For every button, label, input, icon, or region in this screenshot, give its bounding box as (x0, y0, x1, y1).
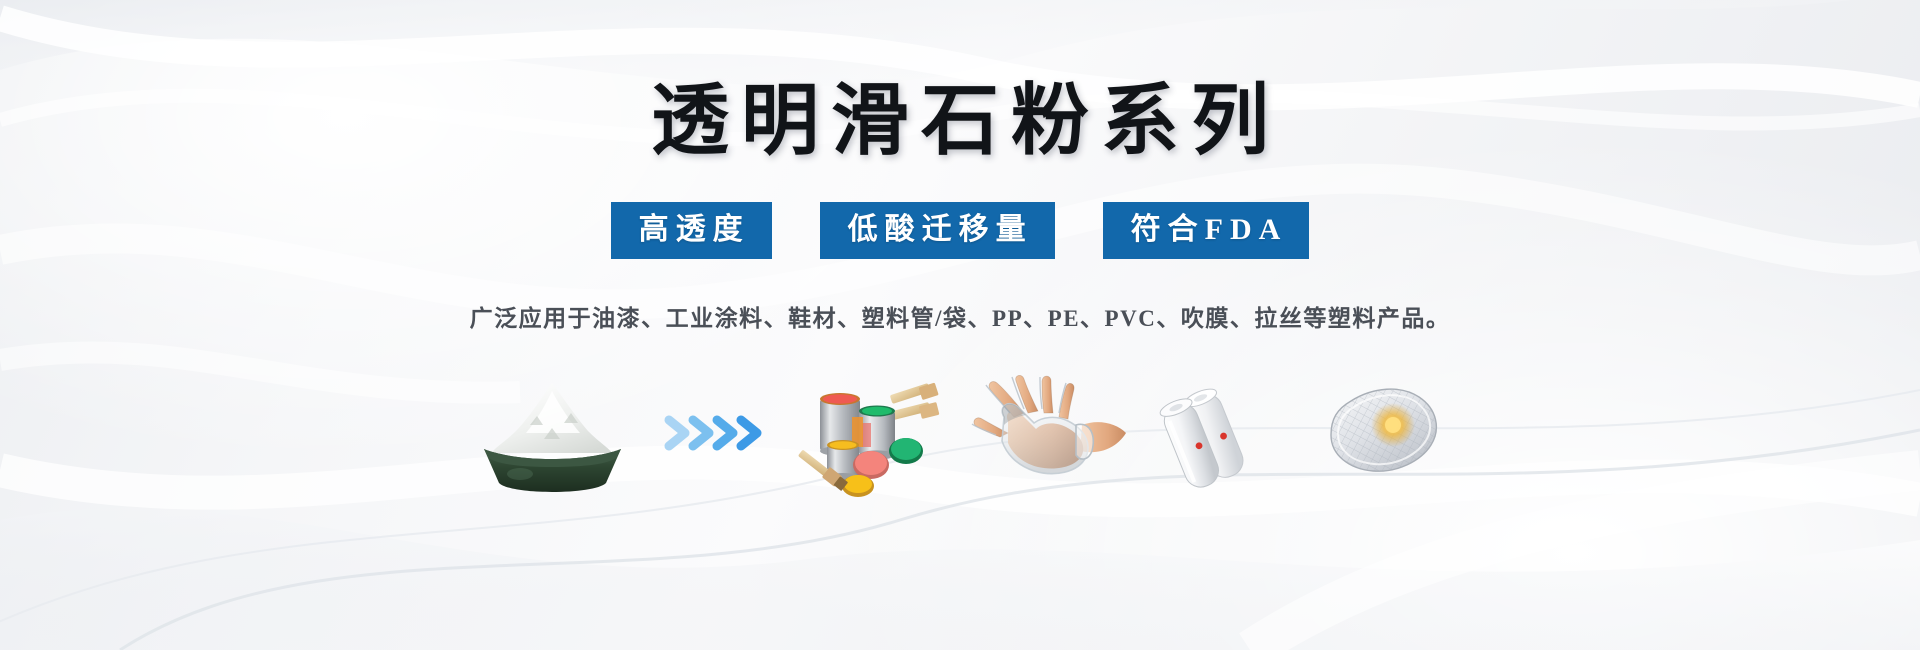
application-description: 广泛应用于油漆、工业涂料、鞋材、塑料管/袋、PP、PE、PVC、吹膜、拉丝等塑料… (470, 299, 1451, 333)
badge-high-transparency: 高透度 (611, 202, 772, 259)
product-shoe-sole (1315, 373, 1460, 493)
badge-fda-compliant: 符合FDA (1103, 202, 1310, 259)
page-title: 透明滑石粉系列 (639, 82, 1281, 160)
product-gloved-hand (964, 373, 1129, 493)
product-talc-powder-in-bowl (460, 373, 645, 493)
product-paint-cans (796, 373, 946, 493)
badge-low-acid-migration: 低酸迁移量 (820, 202, 1055, 259)
arrow-separator-icon (663, 373, 778, 493)
feature-badge-group: 高透度 低酸迁移量 符合FDA (611, 202, 1310, 259)
product-banner: 透明滑石粉系列 高透度 低酸迁移量 符合FDA 广泛应用于油漆、工业涂料、鞋材、… (0, 0, 1920, 650)
product-film-rolls (1147, 373, 1297, 493)
product-application-strip (460, 363, 1460, 493)
banner-content: 透明滑石粉系列 高透度 低酸迁移量 符合FDA 广泛应用于油漆、工业涂料、鞋材、… (0, 0, 1920, 650)
